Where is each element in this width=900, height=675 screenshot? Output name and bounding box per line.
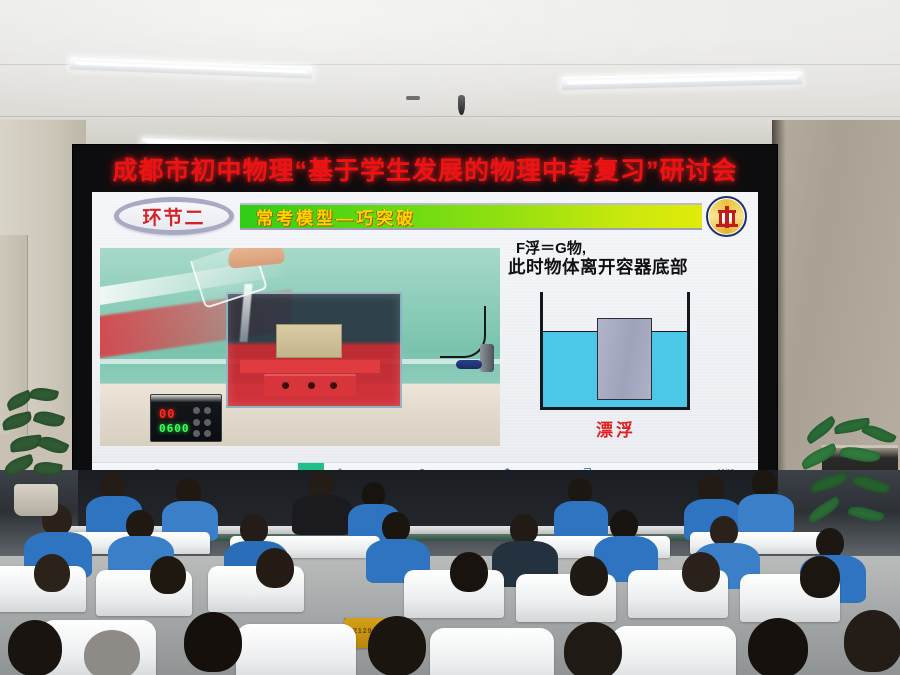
meter-buttons[interactable] bbox=[193, 407, 217, 437]
ceiling-mount-stub bbox=[406, 96, 420, 100]
beaker-outline bbox=[540, 292, 690, 410]
classroom-photo-scene: 成都市初中物理“基于学生发展的物理中考复习”研讨会 环节二 常考模型—巧突破 bbox=[0, 0, 900, 675]
seat-back bbox=[236, 624, 356, 675]
beaker-right-wall bbox=[687, 292, 690, 410]
section-title-label: 常考模型—巧突破 bbox=[240, 204, 416, 229]
meter-top-readout: 00 bbox=[159, 407, 175, 421]
crest-glyph bbox=[716, 206, 738, 228]
potted-plant-left bbox=[0, 388, 74, 518]
ceiling-projector-mount bbox=[458, 95, 465, 115]
seat-back bbox=[430, 628, 554, 675]
potted-palm-right bbox=[800, 420, 900, 570]
recessed-linear-light bbox=[562, 71, 802, 90]
meter-bottom-readout: 0600 bbox=[159, 422, 190, 435]
led-display-wall: 成都市初中物理“基于学生发展的物理中考复习”研讨会 环节二 常考模型—巧突破 bbox=[72, 144, 778, 488]
experiment-video-frame[interactable]: 00 0600 bbox=[100, 248, 500, 446]
beaker-base bbox=[540, 407, 690, 410]
floating-state-label: 漂浮 bbox=[516, 416, 716, 441]
water-tank bbox=[226, 292, 402, 408]
seat-back bbox=[612, 626, 736, 675]
floating-diagram: 漂浮 bbox=[516, 284, 716, 444]
step-badge: 环节二 bbox=[114, 197, 234, 235]
event-banner-title: 成都市初中物理“基于学生发展的物理中考复习”研讨会 bbox=[72, 144, 778, 194]
audience-area: 2129 bbox=[0, 470, 900, 675]
ceiling bbox=[0, 0, 900, 152]
section-title-bar: 常考模型—巧突破 bbox=[240, 203, 702, 230]
wooden-block bbox=[276, 324, 342, 358]
step-badge-label: 环节二 bbox=[142, 203, 205, 230]
digital-force-meter: 00 0600 bbox=[150, 394, 222, 442]
recessed-linear-light bbox=[70, 57, 312, 78]
slide-header: 环节二 常考模型—巧突破 bbox=[92, 192, 758, 240]
school-emblem-icon bbox=[706, 196, 747, 237]
slide-caption: 此时物体离开容器底部 bbox=[508, 254, 688, 279]
red-sensor-block bbox=[264, 374, 356, 396]
faucet-and-probe bbox=[456, 344, 494, 378]
floating-block bbox=[597, 318, 652, 400]
red-platform bbox=[240, 360, 380, 373]
presentation-slide[interactable]: 环节二 常考模型—巧突破 bbox=[92, 192, 758, 462]
